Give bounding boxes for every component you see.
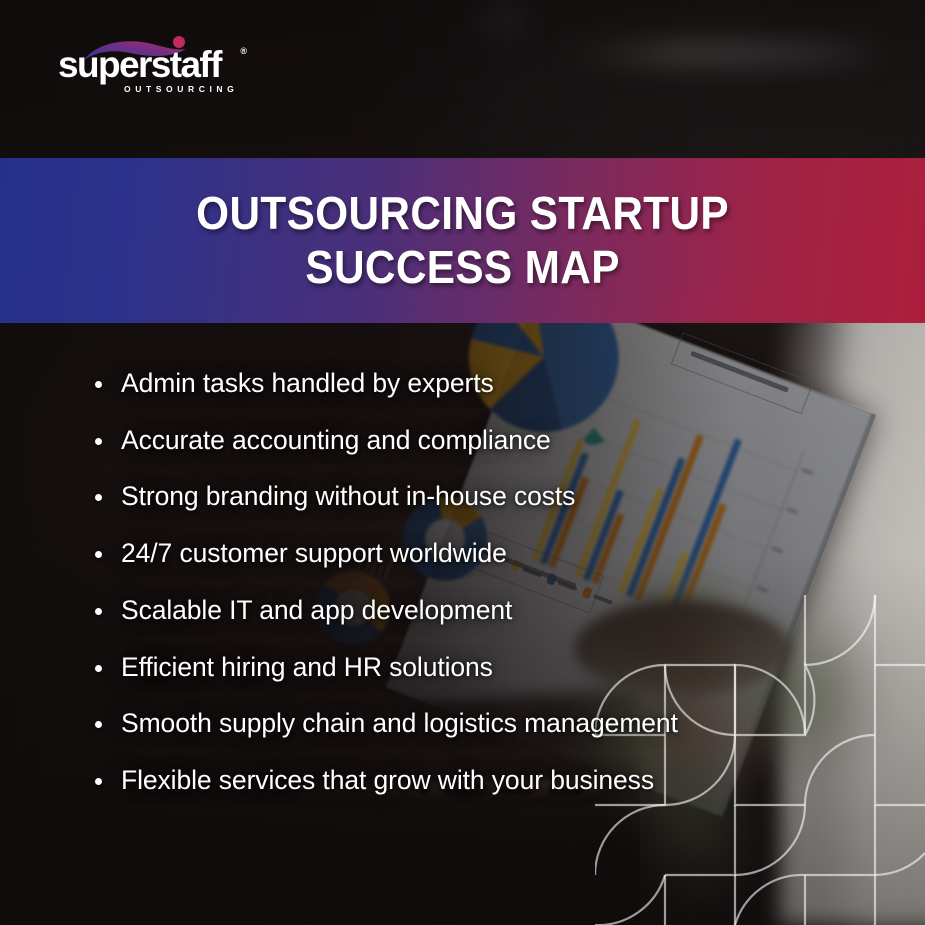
poster: superstaff ® OUTSOURCING OUTSOURCING STA… bbox=[0, 0, 925, 925]
list-item: Flexible services that grow with your bu… bbox=[86, 765, 876, 796]
list-item: Admin tasks handled by experts bbox=[86, 368, 876, 399]
logo-wordmark: superstaff bbox=[58, 46, 221, 83]
list-item: 24/7 customer support worldwide bbox=[86, 538, 876, 569]
list-item: Scalable IT and app development bbox=[86, 595, 876, 626]
benefits-list: Admin tasks handled by experts Accurate … bbox=[86, 368, 876, 796]
list-item: Efficient hiring and HR solutions bbox=[86, 652, 876, 683]
logo-tagline: OUTSOURCING bbox=[124, 85, 238, 94]
list-item: Smooth supply chain and logistics manage… bbox=[86, 708, 876, 739]
brand-logo[interactable]: superstaff ® OUTSOURCING bbox=[58, 36, 238, 90]
list-item: Accurate accounting and compliance bbox=[86, 425, 876, 456]
logo-registered-mark: ® bbox=[240, 46, 247, 56]
page-title: OUTSOURCING STARTUP SUCCESS MAP bbox=[159, 187, 765, 294]
list-item: Strong branding without in-house costs bbox=[86, 481, 876, 512]
title-banner: OUTSOURCING STARTUP SUCCESS MAP bbox=[0, 158, 925, 323]
